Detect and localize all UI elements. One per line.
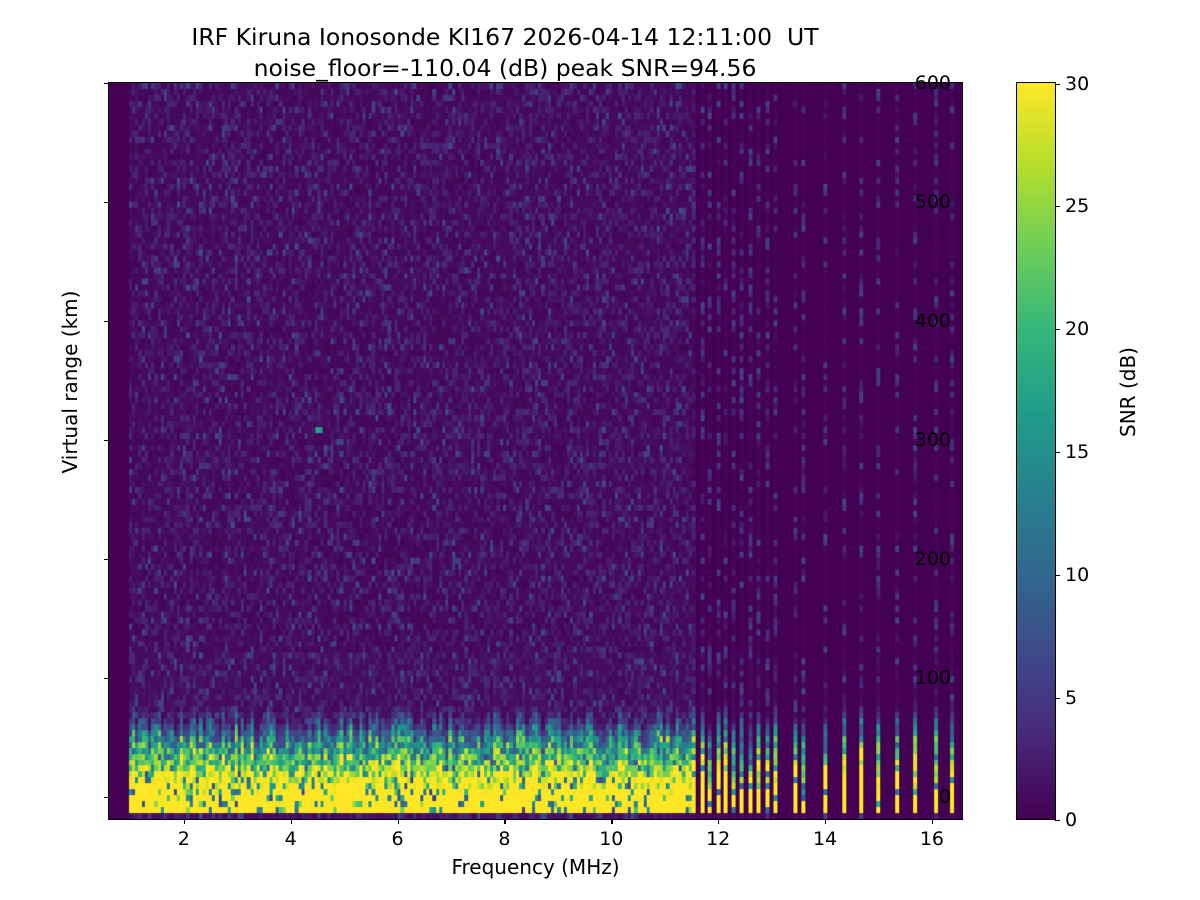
colorbar: 051015202530 — [1016, 82, 1056, 820]
title-line-1: IRF Kiruna Ionosonde KI167 2026-04-14 12… — [0, 22, 1010, 53]
x-tick-label: 2 — [178, 828, 190, 850]
colorbar-tick-label: 10 — [1065, 564, 1089, 586]
x-tick-label: 8 — [498, 828, 510, 850]
colorbar-tick-mark — [1055, 84, 1060, 85]
y-tick-mark — [104, 202, 109, 203]
x-tick-label: 16 — [920, 828, 944, 850]
figure-title: IRF Kiruna Ionosonde KI167 2026-04-14 12… — [0, 22, 1010, 83]
x-axis-label: Frequency (MHz) — [108, 855, 963, 879]
x-tick-mark — [504, 819, 505, 824]
colorbar-tick-label: 5 — [1065, 687, 1077, 709]
x-tick-mark — [398, 819, 399, 824]
y-tick-mark — [104, 678, 109, 679]
y-tick-label: 500 — [915, 191, 951, 213]
y-tick-mark — [104, 797, 109, 798]
colorbar-tick-label: 30 — [1065, 73, 1089, 95]
x-tick-label: 14 — [813, 828, 837, 850]
colorbar-tick-mark — [1055, 698, 1060, 699]
x-tick-mark — [184, 819, 185, 824]
colorbar-tick-mark — [1055, 329, 1060, 330]
colorbar-tick-mark — [1055, 575, 1060, 576]
y-tick-label: 100 — [915, 667, 951, 689]
y-axis-ticks: 0100200300400500600 — [109, 83, 962, 819]
y-tick-mark — [104, 321, 109, 322]
colorbar-tick-label: 0 — [1065, 809, 1077, 831]
y-tick-label: 600 — [915, 72, 951, 94]
x-tick-mark — [611, 819, 612, 824]
y-axis-label: Virtual range (km) — [58, 282, 82, 482]
ionogram-plot-area: 0100200300400500600 246810121416 — [108, 82, 963, 820]
x-tick-mark — [718, 819, 719, 824]
ionogram-figure: IRF Kiruna Ionosonde KI167 2026-04-14 12… — [0, 0, 1200, 900]
x-tick-label: 10 — [599, 828, 623, 850]
y-tick-mark — [104, 440, 109, 441]
x-tick-mark — [825, 819, 826, 824]
colorbar-tick-mark — [1055, 206, 1060, 207]
x-tick-mark — [291, 819, 292, 824]
colorbar-tick-mark — [1055, 452, 1060, 453]
colorbar-tick-label: 20 — [1065, 318, 1089, 340]
title-line-2: noise_floor=-110.04 (dB) peak SNR=94.56 — [0, 53, 1010, 84]
colorbar-tick-mark — [1055, 820, 1060, 821]
y-tick-mark — [104, 559, 109, 560]
x-tick-label: 4 — [285, 828, 297, 850]
y-tick-label: 200 — [915, 548, 951, 570]
x-tick-label: 12 — [706, 828, 730, 850]
y-tick-label: 300 — [915, 429, 951, 451]
colorbar-tick-label: 25 — [1065, 195, 1089, 217]
x-tick-mark — [932, 819, 933, 824]
colorbar-label: SNR (dB) — [1116, 282, 1140, 502]
y-tick-label: 400 — [915, 310, 951, 332]
colorbar-tick-label: 15 — [1065, 441, 1089, 463]
y-tick-mark — [104, 83, 109, 84]
colorbar-gradient — [1017, 83, 1055, 819]
y-tick-label: 0 — [939, 786, 951, 808]
x-tick-label: 6 — [392, 828, 404, 850]
